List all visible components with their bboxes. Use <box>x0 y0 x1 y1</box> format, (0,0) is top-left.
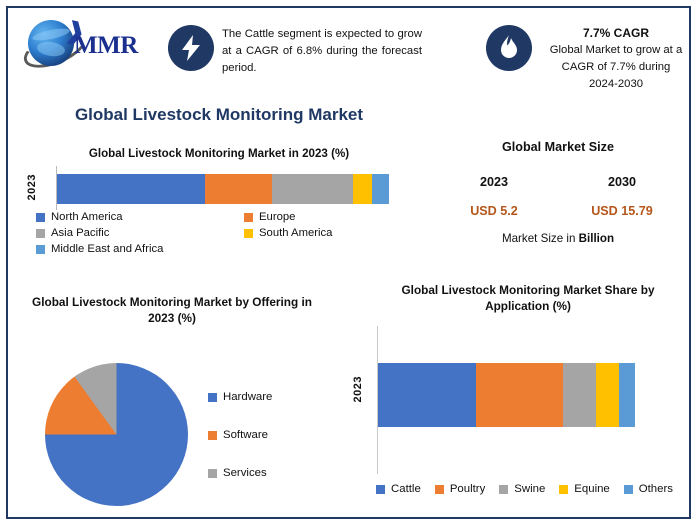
legend-swatch-software <box>208 431 217 440</box>
legend-label-services: Services <box>223 467 267 479</box>
legend-swatch-poultry <box>435 485 444 494</box>
legend-label-others: Others <box>639 483 673 495</box>
legend-label-north-america: North America <box>51 211 123 223</box>
legend-swatch-asia-pacific <box>36 229 45 238</box>
cagr-line-2: CAGR of 7.7% during <box>536 59 696 76</box>
legend-label-poultry: Poultry <box>450 483 485 495</box>
application-chart: 2023 <box>352 326 662 476</box>
region-chart-legend: North America Europe Asia Pacific South … <box>36 211 406 259</box>
lightning-bolt-icon <box>168 25 214 71</box>
legend-swatch-others <box>624 485 633 494</box>
market-size-value-2030: USD 15.79 <box>558 204 686 218</box>
bar-segment-europe <box>205 174 272 204</box>
application-stacked-bar <box>378 363 635 427</box>
legend-swatch-hardware <box>208 393 217 402</box>
market-size-values: USD 5.2 USD 15.79 <box>430 204 686 218</box>
cagr-headline: 7.7% CAGR <box>536 25 696 42</box>
application-chart-y-axis-label: 2023 <box>352 376 364 402</box>
bar-segment-asia-pacific <box>272 174 353 204</box>
brand-name: MMR <box>74 32 138 60</box>
legend-swatch-europe <box>244 213 253 222</box>
legend-item-swine: Swine <box>499 483 545 495</box>
header: ❱ MMR The Cattle segment is expected to … <box>8 8 689 88</box>
legend-label-swine: Swine <box>514 483 545 495</box>
legend-swatch-equine <box>559 485 568 494</box>
bar-segment-equine <box>596 363 619 427</box>
region-chart: 2023 <box>30 166 420 211</box>
market-size-unit: Billion <box>579 232 614 245</box>
legend-item-asia-pacific: Asia Pacific <box>36 227 244 239</box>
legend-item-hardware: Hardware <box>208 378 272 416</box>
offering-pie-chart <box>45 363 188 506</box>
legend-item-services: Services <box>208 454 272 492</box>
legend-label-south-america: South America <box>259 227 332 239</box>
brand-logo: ❱ MMR <box>22 18 154 70</box>
market-size-year-2023: 2023 <box>430 175 558 189</box>
legend-swatch-cattle <box>376 485 385 494</box>
header-left-callout-text: The Cattle segment is expected to grow a… <box>222 26 422 77</box>
region-chart-y-axis-label: 2023 <box>26 174 38 200</box>
legend-label-cattle: Cattle <box>391 483 421 495</box>
offering-chart-title: Global Livestock Monitoring Market by Of… <box>22 294 322 326</box>
legend-label-software: Software <box>223 429 268 441</box>
market-size-value-2023: USD 5.2 <box>430 204 558 218</box>
application-chart-legend: Cattle Poultry Swine Equine Others <box>362 483 687 495</box>
legend-label-europe: Europe <box>259 211 295 223</box>
market-size-title: Global Market Size <box>430 140 686 154</box>
legend-item-equine: Equine <box>559 483 609 495</box>
legend-swatch-services <box>208 469 217 478</box>
legend-swatch-south-america <box>244 229 253 238</box>
cagr-line-1: Global Market to grow at a <box>536 42 696 59</box>
legend-item-europe: Europe <box>244 211 295 223</box>
market-size-years: 2023 2030 <box>430 175 686 189</box>
legend-item-software: Software <box>208 416 272 454</box>
legend-item-poultry: Poultry <box>435 483 485 495</box>
bar-segment-cattle <box>378 363 476 427</box>
market-size-unit-prefix: Market Size in <box>502 232 579 245</box>
legend-item-middle-east-and-africa: Middle East and Africa <box>36 243 244 255</box>
market-size-year-2030: 2030 <box>558 175 686 189</box>
legend-label-hardware: Hardware <box>223 391 272 403</box>
legend-item-north-america: North America <box>36 211 244 223</box>
header-right-callout: 7.7% CAGR Global Market to grow at a CAG… <box>536 25 696 93</box>
infographic-canvas: ❱ MMR The Cattle segment is expected to … <box>0 0 697 525</box>
bar-segment-others <box>619 363 635 427</box>
bar-segment-middle-east-and-africa <box>372 174 389 204</box>
page-title: Global Livestock Monitoring Market <box>18 105 420 125</box>
market-size-unit-note: Market Size in Billion <box>430 232 686 245</box>
offering-chart-legend: Hardware Software Services <box>208 378 272 492</box>
bar-segment-poultry <box>476 363 562 427</box>
bar-segment-north-america <box>57 174 205 204</box>
legend-label-asia-pacific: Asia Pacific <box>51 227 109 239</box>
legend-swatch-north-america <box>36 213 45 222</box>
legend-swatch-swine <box>499 485 508 494</box>
bar-segment-swine <box>563 363 596 427</box>
region-chart-title: Global Livestock Monitoring Market in 20… <box>18 147 420 160</box>
legend-item-south-america: South America <box>244 227 332 239</box>
legend-label-equine: Equine <box>574 483 609 495</box>
flame-icon <box>486 25 532 71</box>
application-chart-title: Global Livestock Monitoring Market Share… <box>378 282 678 314</box>
legend-swatch-middle-east-and-africa <box>36 245 45 254</box>
bar-segment-south-america <box>353 174 372 204</box>
legend-label-middle-east-and-africa: Middle East and Africa <box>51 243 163 255</box>
legend-item-cattle: Cattle <box>376 483 421 495</box>
region-stacked-bar <box>57 174 389 204</box>
legend-item-others: Others <box>624 483 673 495</box>
cagr-line-3: 2024-2030 <box>536 76 696 93</box>
